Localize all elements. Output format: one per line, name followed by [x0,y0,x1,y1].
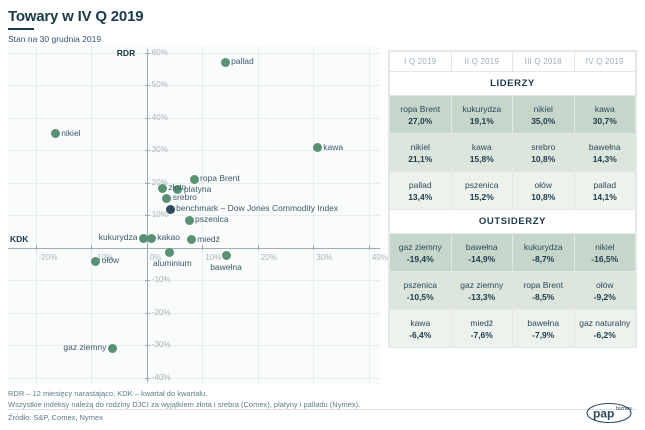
cell-commodity-value: 10,8% [513,191,574,203]
point-label: ropa Brent [200,173,240,183]
table-row: kawa-6,4%miedź-7,6%bawełna-7,9%gaz natur… [390,310,636,348]
cell-commodity-name: gaz ziemny [452,279,513,291]
cell-commodity-name: kukurydza [513,241,574,253]
logo-graphic: pap biznes [585,400,637,426]
infographic-page: Towary w IV Q 2019 Stan na 30 grudnia 20… [0,0,645,430]
table-column-header: I Q 2019 [390,52,452,72]
y-tick [145,280,150,281]
y-axis-label: RDR [117,48,135,58]
rankings-table: I Q 2019II Q 2019III Q 2018IV Q 2019 LID… [389,51,636,348]
table-section-row: OUTSIDERZY [390,210,636,234]
x-tick [313,245,314,250]
horizontal-gridline [8,280,380,281]
table-column-header: II Q 2019 [451,52,513,72]
cell-commodity-name: miedź [452,317,513,329]
table-row: gaz ziemny-19,4%bawełna-14,9%kukurydza-8… [390,234,636,272]
table-cell: gaz naturalny-6,2% [574,310,636,348]
cell-commodity-value: 15,2% [452,191,513,203]
horizontal-gridline [8,118,380,119]
data-point-nikiel [51,129,60,138]
y-tick [145,378,150,379]
table-column-header: IV Q 2019 [574,52,636,72]
table-cell: nikiel21,1% [390,134,452,172]
table-cell: pallad13,4% [390,172,452,210]
cell-commodity-value: 35,0% [513,115,574,127]
cell-commodity-name: pszenica [452,179,513,191]
data-point-srebro [162,194,171,203]
data-point-bawełna [222,251,231,260]
footer-divider [8,409,637,410]
x-tick [258,245,259,250]
table-cell: kawa30,7% [574,96,636,134]
x-tick [202,245,203,250]
cell-commodity-name: ropa Brent [513,279,574,291]
cell-commodity-value: -7,9% [513,329,574,341]
table-head: I Q 2019II Q 2019III Q 2018IV Q 2019 [390,52,636,72]
data-point-ropa [190,175,199,184]
cell-commodity-name: kukurydza [452,103,513,115]
y-tick-label: -10% [152,275,171,284]
cell-commodity-value: -14,9% [452,253,513,265]
source-line: Źródło: S&P, Comex, Nymex [8,413,103,422]
cell-commodity-value: -9,2% [575,291,636,303]
table-cell: kawa-6,4% [390,310,452,348]
data-point-pszenica [185,216,194,225]
cell-commodity-value: -10,5% [390,291,451,303]
point-label: pallad [231,56,254,66]
y-tick [145,313,150,314]
x-tick-label: 20% [261,253,277,262]
table-cell: gaz ziemny-19,4% [390,234,452,272]
data-point-gaz [108,344,117,353]
footnote-definitions: RDR – 12 miesięcy narastająco, KDK – kwa… [8,389,360,400]
cell-commodity-name: nikiel [513,103,574,115]
table-header-row: I Q 2019II Q 2019III Q 2018IV Q 2019 [390,52,636,72]
svg-text:pap: pap [593,407,614,421]
cell-commodity-name: bawełna [575,141,636,153]
x-tick [36,245,37,250]
y-tick [145,53,150,54]
horizontal-gridline [8,215,380,216]
x-tick-label: 40% [372,253,388,262]
y-tick [145,118,150,119]
cell-commodity-name: gaz ziemny [390,241,451,253]
table-cell: kukurydza19,1% [451,96,513,134]
y-tick-label: -40% [152,373,171,382]
table-section-row: LIDERZY [390,72,636,96]
cell-commodity-value: 10,8% [513,153,574,165]
table-cell: srebro10,8% [513,134,575,172]
cell-commodity-value: 14,1% [575,191,636,203]
data-point-złoto [158,184,167,193]
y-tick-label: -20% [152,308,171,317]
cell-commodity-value: -7,6% [452,329,513,341]
cell-commodity-value: 15,8% [452,153,513,165]
cell-commodity-value: 30,7% [575,115,636,127]
cell-commodity-name: pallad [575,179,636,191]
y-tick [145,183,150,184]
table-cell: ołów-9,2% [574,272,636,310]
cell-commodity-name: nikiel [575,241,636,253]
point-label: kawa [323,142,343,152]
title-underline [8,28,34,30]
data-point-kukurydza [139,234,148,243]
data-point-benchmark [166,205,175,214]
cell-commodity-name: kawa [452,141,513,153]
point-label: benchmark – Dow Jones Commodity Index [176,203,338,213]
y-tick-label: -30% [152,340,171,349]
x-tick-label: -20% [39,253,58,262]
y-tick [145,85,150,86]
table-cell: bawełna-14,9% [451,234,513,272]
y-tick-label: 60% [152,48,168,57]
cell-commodity-value: -13,3% [452,291,513,303]
cell-commodity-name: kawa [390,317,451,329]
point-label: nikiel [61,128,80,138]
y-tick [145,215,150,216]
x-tick [91,245,92,250]
cell-commodity-value: -6,2% [575,329,636,341]
footnotes: RDR – 12 miesięcy narastająco, KDK – kwa… [8,389,360,410]
table-cell: bawełna-7,9% [513,310,575,348]
point-label: kakao [157,232,180,242]
point-label: srebro [173,192,197,202]
cell-commodity-name: srebro [513,141,574,153]
cell-commodity-name: ołów [513,179,574,191]
x-tick-label: 30% [316,253,332,262]
scatter-chart: -20%-10%0%10%20%30%40%60%50%40%30%20%10%… [8,46,380,384]
cell-commodity-value: -16,5% [575,253,636,265]
data-point-pallad [221,58,230,67]
horizontal-gridline [8,313,380,314]
point-label: pszenica [195,214,229,224]
table-section-title: LIDERZY [390,72,636,96]
point-label: gaz ziemny [63,342,106,352]
data-point-kakao [147,234,156,243]
horizontal-gridline [8,378,380,379]
point-label: bawełna [210,262,242,272]
table-cell: bawełna14,3% [574,134,636,172]
table-cell: gaz ziemny-13,3% [451,272,513,310]
rankings-table-panel: I Q 2019II Q 2019III Q 2018IV Q 2019 LID… [388,50,637,347]
cell-commodity-value: 13,4% [390,191,451,203]
svg-text:biznes: biznes [616,406,632,412]
y-tick-label: 30% [152,145,168,154]
y-tick [145,345,150,346]
table-cell: miedź-7,6% [451,310,513,348]
table-cell: ropa Brent27,0% [390,96,452,134]
table-section-title: OUTSIDERZY [390,210,636,234]
pap-biznes-logo: pap biznes [585,400,637,426]
table-cell: ropa Brent-8,5% [513,272,575,310]
table-row: pallad13,4%pszenica15,2%ołów10,8%pallad1… [390,172,636,210]
cell-commodity-value: 27,0% [390,115,451,127]
cell-commodity-name: bawełna [452,241,513,253]
cell-commodity-value: 14,3% [575,153,636,165]
cell-commodity-value: 21,1% [390,153,451,165]
table-cell: pszenica15,2% [451,172,513,210]
x-tick-label: 10% [205,253,221,262]
data-point-kawa [313,143,322,152]
table-cell: kukurydza-8,7% [513,234,575,272]
cell-commodity-name: pallad [390,179,451,191]
cell-commodity-name: ropa Brent [390,103,451,115]
horizontal-gridline [8,53,380,54]
cell-commodity-name: kawa [575,103,636,115]
table-body: LIDERZYropa Brent27,0%kukurydza19,1%niki… [390,72,636,348]
cell-commodity-name: ołów [575,279,636,291]
table-cell: nikiel-16,5% [574,234,636,272]
table-cell: pallad14,1% [574,172,636,210]
cell-commodity-value: -6,4% [390,329,451,341]
table-row: nikiel21,1%kawa15,8%srebro10,8%bawełna14… [390,134,636,172]
point-label: złoto [168,182,186,192]
cell-commodity-name: gaz naturalny [575,317,636,329]
cell-commodity-value: 19,1% [452,115,513,127]
cell-commodity-value: -8,7% [513,253,574,265]
table-row: ropa Brent27,0%kukurydza19,1%nikiel35,0%… [390,96,636,134]
y-tick [145,150,150,151]
cell-commodity-name: nikiel [390,141,451,153]
cell-commodity-name: pszenica [390,279,451,291]
point-label: miedź [197,234,220,244]
cell-commodity-value: -19,4% [390,253,451,265]
table-cell: pszenica-10,5% [390,272,452,310]
data-point-aluminium [165,248,174,257]
table-cell: nikiel35,0% [513,96,575,134]
data-point-miedź [187,235,196,244]
y-tick-label: 40% [152,113,168,122]
x-axis-label: KDK [10,234,28,244]
table-row: pszenica-10,5%gaz ziemny-13,3%ropa Brent… [390,272,636,310]
cell-commodity-name: bawełna [513,317,574,329]
table-cell: ołów10,8% [513,172,575,210]
x-axis-line [8,248,380,249]
point-label: aluminium [153,258,192,268]
page-title: Towary w IV Q 2019 [8,8,143,25]
data-point-ołów [91,257,100,266]
horizontal-gridline [8,85,380,86]
header-subtitle: Stan na 30 grudnia 2019 [8,34,143,45]
y-tick-label: 50% [152,80,168,89]
table-column-header: III Q 2018 [513,52,575,72]
x-tick [147,245,148,250]
point-label: kukurydza [99,232,138,242]
cell-commodity-value: -8,5% [513,291,574,303]
x-tick [369,245,370,250]
table-cell: kawa15,8% [451,134,513,172]
point-label: ołów [102,255,119,265]
